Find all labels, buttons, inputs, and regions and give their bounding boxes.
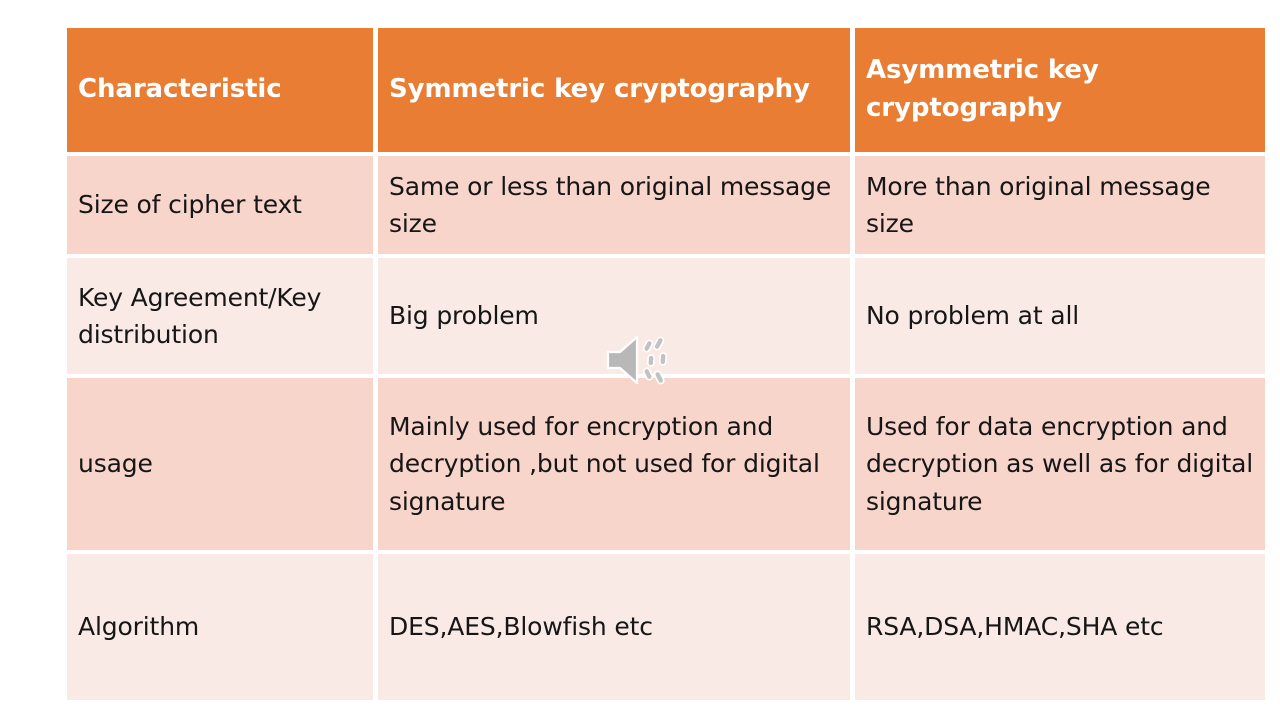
column-header-characteristic: Characteristic xyxy=(67,28,378,156)
cell-asymmetric: More than original message size xyxy=(855,156,1265,258)
speaker-icon[interactable] xyxy=(604,332,676,388)
cell-asymmetric: RSA,DSA,HMAC,SHA etc xyxy=(855,554,1265,700)
table-body: Size of cipher text Same or less than or… xyxy=(67,156,1265,700)
table-header: Characteristic Symmetric key cryptograph… xyxy=(67,28,1265,156)
header-row: Characteristic Symmetric key cryptograph… xyxy=(67,28,1265,156)
cell-symmetric: DES,AES,Blowfish etc xyxy=(378,554,855,700)
cell-asymmetric: No problem at all xyxy=(855,258,1265,378)
cell-characteristic: usage xyxy=(67,378,378,554)
cell-symmetric: Same or less than original message size xyxy=(378,156,855,258)
cell-asymmetric: Used for data encryption and decryption … xyxy=(855,378,1265,554)
table-row: Size of cipher text Same or less than or… xyxy=(67,156,1265,258)
table-row: usage Mainly used for encryption and dec… xyxy=(67,378,1265,554)
table-row: Algorithm DES,AES,Blowfish etc RSA,DSA,H… xyxy=(67,554,1265,700)
cell-characteristic: Size of cipher text xyxy=(67,156,378,258)
cell-characteristic: Algorithm xyxy=(67,554,378,700)
slide-canvas: Characteristic Symmetric key cryptograph… xyxy=(0,0,1280,720)
column-header-symmetric: Symmetric key cryptography xyxy=(378,28,855,156)
cell-characteristic: Key Agreement/Key distribution xyxy=(67,258,378,378)
cell-symmetric: Mainly used for encryption and decryptio… xyxy=(378,378,855,554)
column-header-asymmetric: Asymmetric key cryptography xyxy=(855,28,1265,156)
